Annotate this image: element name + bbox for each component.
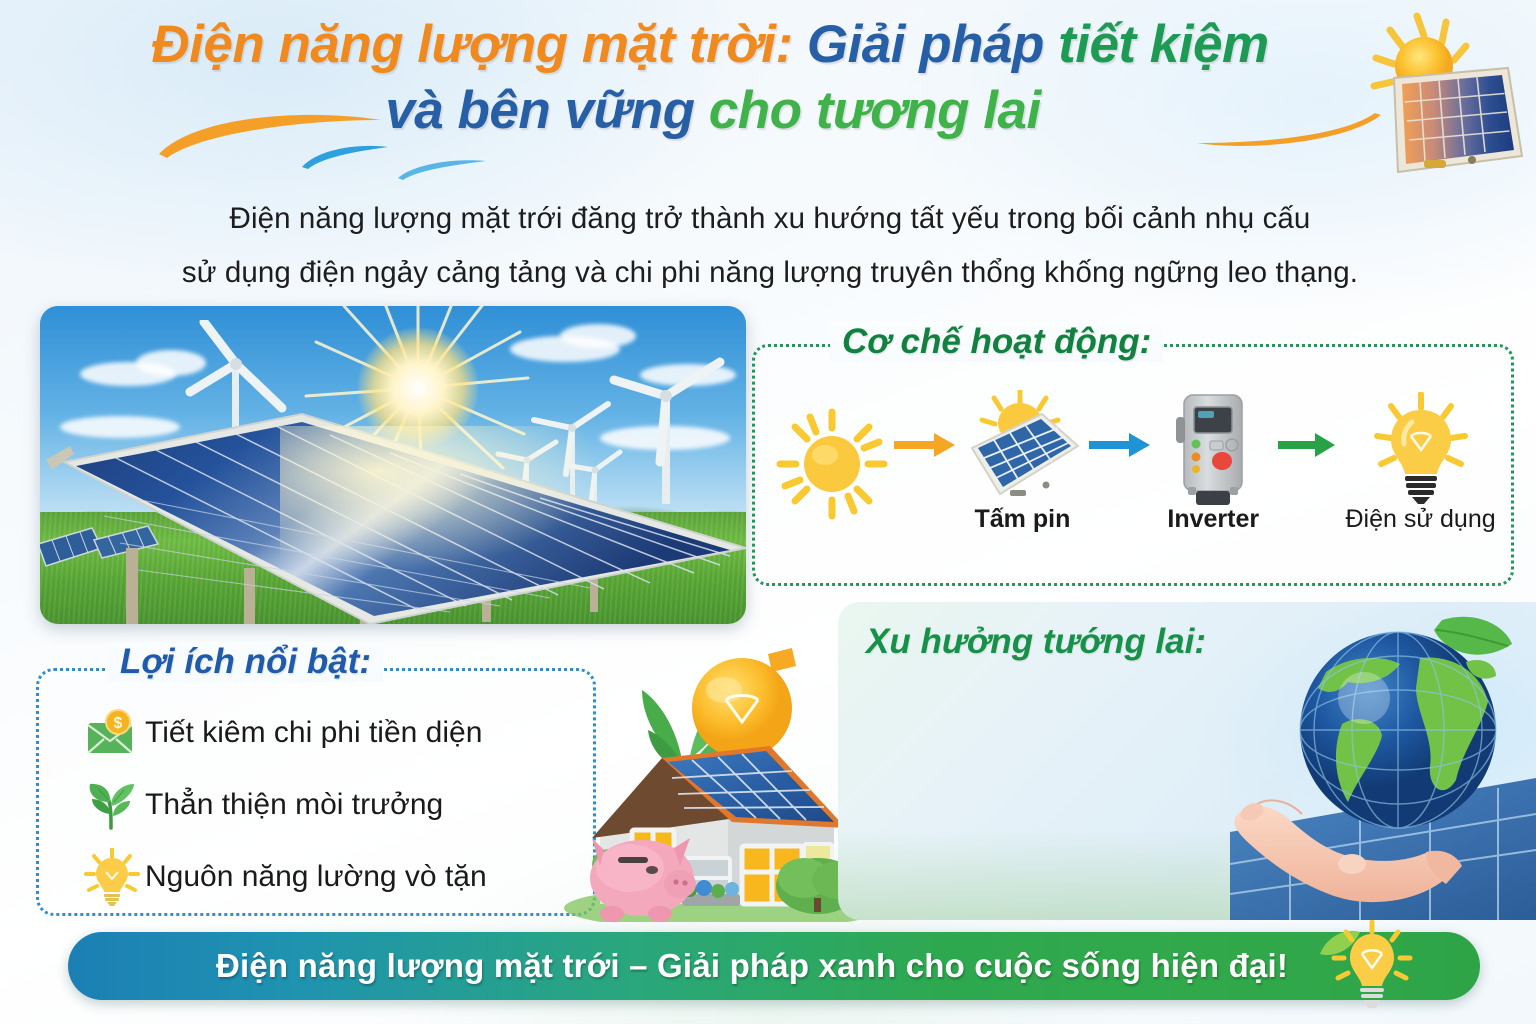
blue-swoosh-1-icon <box>300 143 390 171</box>
subtitle-line-2: sử dụng điện ngảy cảng tảng và chi phi n… <box>50 246 1490 300</box>
title-line-2: và bên vững cho tương lai <box>0 80 1390 142</box>
arrow-sun-to-panel-icon <box>892 432 958 492</box>
title-line-1: Điện năng lượng mặt trời: Giải pháp tiết… <box>0 14 1390 76</box>
list-item: Thẳn thiện mòi trưởng <box>79 769 579 841</box>
solar-panel-icon <box>1394 68 1522 172</box>
trends-title: Xu hưởng tướng lai: <box>866 622 1206 662</box>
banner-text: Điện năng lượng mặt trới – Giải pháp xan… <box>216 947 1288 985</box>
mechanism-title: Cơ chế hoạt động: <box>830 322 1163 362</box>
lightbulb-icon <box>1340 391 1501 509</box>
title-part-green: tiết kiệm <box>1058 15 1269 74</box>
mechanism-label-usage: Điện sử dụng <box>1340 505 1501 534</box>
bottom-banner: Điện năng lượng mặt trới – Giải pháp xan… <box>68 932 1480 1000</box>
list-item: $ Tiết kiêm chi phi tiền diện <box>79 697 579 769</box>
mechanism-step-sun <box>771 405 892 519</box>
lightbulb-icon <box>79 848 145 906</box>
list-item: Nguôn năng lường vò tặn <box>79 841 579 913</box>
mechanism-step-panel: Tấm pin <box>958 391 1086 534</box>
mechanism-step-usage: Điện sử dụng <box>1340 391 1501 534</box>
title2-part-blue: và bên vững <box>385 81 694 140</box>
benefit-label: Nguôn năng lường vò tặn <box>145 860 487 894</box>
arrow-inverter-to-load-icon <box>1274 432 1340 492</box>
sprout-leaf-icon <box>79 780 145 830</box>
lightbulb-icon <box>1330 920 1414 1010</box>
mechanism-step-inverter: Inverter <box>1153 391 1274 534</box>
header-solar-panel-art <box>1342 8 1528 178</box>
benefits-list: $ Tiết kiêm chi phi tiền diện Thẳn thiệ <box>79 697 579 913</box>
title2-part-green: cho tương lai <box>709 81 1041 140</box>
inverter-icon <box>1153 391 1274 509</box>
mechanism-label-inverter: Inverter <box>1153 505 1274 534</box>
arrow-panel-to-inverter-icon <box>1086 432 1152 492</box>
mechanism-label-panel: Tấm pin <box>958 505 1086 534</box>
benefits-title: Lợi ích nổi bật: <box>108 642 383 682</box>
header: Điện năng lượng mặt trời: Giải pháp tiết… <box>0 0 1536 178</box>
globe-in-hand-art <box>1230 602 1536 920</box>
solar-panel-icon <box>958 391 1086 509</box>
benefit-label: Thẳn thiện mòi trưởng <box>145 788 443 822</box>
hero-photo-solar-field <box>40 306 746 624</box>
sun-icon <box>771 405 892 523</box>
mechanism-box: Tấm pin <box>752 344 1514 586</box>
blue-swoosh-2-icon <box>396 158 488 182</box>
subtitle-line-1: Điện năng lượng mặt trới đăng trở thành … <box>50 192 1490 246</box>
money-envelope-icon: $ <box>79 709 145 757</box>
svg-text:$: $ <box>114 715 123 732</box>
mechanism-flow: Tấm pin <box>771 387 1501 537</box>
title-part-blue: Giải pháp <box>807 15 1044 74</box>
title-part-orange: Điện năng lượng mặt trời: <box>151 15 792 74</box>
photo-solar-array <box>40 398 746 624</box>
page-title: Điện năng lượng mặt trời: Giải pháp tiết… <box>0 14 1390 142</box>
benefit-label: Tiết kiêm chi phi tiền diện <box>145 716 482 750</box>
house-with-solar-and-piggybank-art <box>556 632 876 922</box>
subtitle: Điện năng lượng mặt trới đăng trở thành … <box>50 192 1490 300</box>
benefits-box: $ Tiết kiêm chi phi tiền diện Thẳn thiệ <box>36 668 596 916</box>
